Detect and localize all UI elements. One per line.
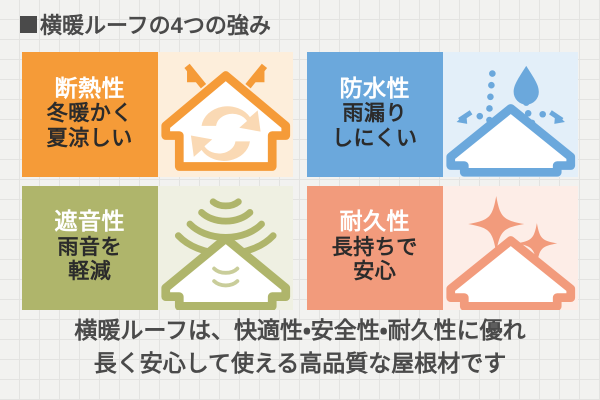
card-title: 遮音性 xyxy=(55,208,126,235)
card-line-2: しにくい xyxy=(332,127,418,152)
house-water-droplet-repel-icon xyxy=(443,52,579,177)
page-title: 横暖ルーフの4つの強み xyxy=(20,8,271,40)
summary-line-1: 横暖ルーフは、快適性・安全性・耐久性に優れ xyxy=(0,314,600,347)
card-line-2: 夏涼しい xyxy=(47,127,133,152)
card-line-2: 安心 xyxy=(353,260,396,285)
strength-card-waterproof: 防水性 雨漏り しにくい xyxy=(307,52,578,177)
page-title-text: 横暖ルーフの4つの強み xyxy=(40,8,271,40)
house-sparkles-icon xyxy=(443,186,579,311)
infographic-page: 横暖ルーフの4つの強み 断熱性 冬暖かく 夏涼しい xyxy=(0,0,600,400)
card-icon-panel xyxy=(443,52,579,177)
strengths-card-grid: 断熱性 冬暖かく 夏涼しい xyxy=(22,52,578,310)
card-text-panel: 防水性 雨漏り しにくい xyxy=(307,52,443,177)
strength-card-durability: 耐久性 長持ちで 安心 xyxy=(307,186,578,311)
house-sound-waves-icon xyxy=(158,186,294,311)
card-text-panel: 断熱性 冬暖かく 夏涼しい xyxy=(22,52,158,177)
card-line-1: 雨漏り xyxy=(343,102,408,127)
card-line-2: 軽減 xyxy=(68,260,111,285)
card-icon-panel xyxy=(158,52,294,177)
card-icon-panel xyxy=(158,186,294,311)
card-text-panel: 耐久性 長持ちで 安心 xyxy=(307,186,443,311)
card-title: 耐久性 xyxy=(340,208,411,235)
card-title: 断熱性 xyxy=(55,75,126,102)
card-line-1: 長持ちで xyxy=(332,236,418,261)
strength-card-soundproof: 遮音性 雨音を 軽減 xyxy=(22,186,293,311)
summary-caption: 横暖ルーフは、快適性・安全性・耐久性に優れ 長く安心して使える高品質な屋根材です xyxy=(0,314,600,379)
card-line-1: 雨音を xyxy=(58,236,123,261)
summary-line-2: 長く安心して使える高品質な屋根材です xyxy=(0,347,600,380)
card-title: 防水性 xyxy=(340,75,411,102)
strength-card-insulation: 断熱性 冬暖かく 夏涼しい xyxy=(22,52,293,177)
filled-square-bullet-icon xyxy=(20,16,37,33)
card-icon-panel xyxy=(443,186,579,311)
card-line-1: 冬暖かく xyxy=(47,102,133,127)
house-heat-circulation-icon xyxy=(158,52,294,177)
card-text-panel: 遮音性 雨音を 軽減 xyxy=(22,186,158,311)
